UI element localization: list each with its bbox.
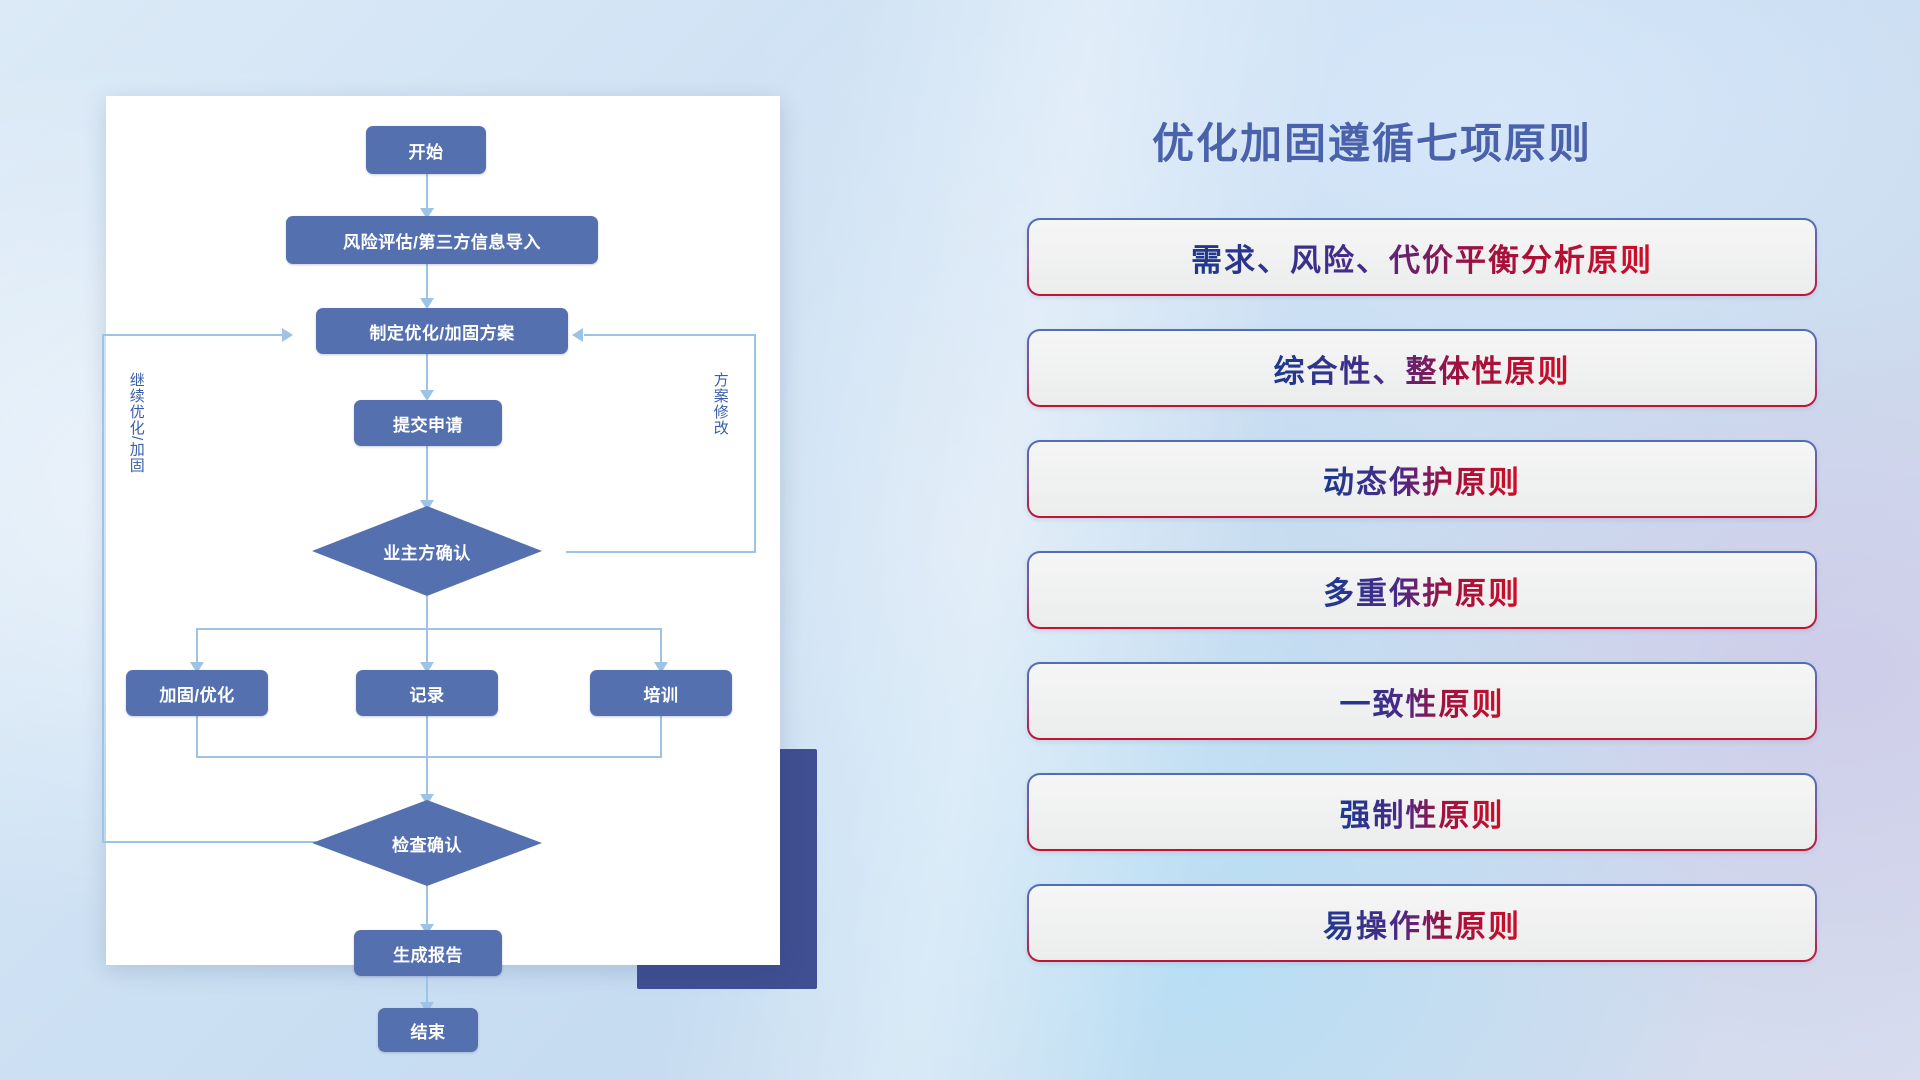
- principles-panel: 优化加固遵循七项原则 需求、风险、代价平衡分析原则 综合性、整体性原则 动态保护…: [1020, 84, 1850, 1014]
- edge-record-to-check: [426, 716, 428, 800]
- principle-label-2: 综合性、整体性原则: [1274, 346, 1571, 391]
- edge-leftloop-vertical: [102, 334, 104, 843]
- edge-leftloop-bottom: [102, 841, 316, 843]
- edge-rightloop-top: [584, 334, 756, 336]
- principle-label-7: 易操作性原则: [1323, 901, 1521, 946]
- principle-label-5: 一致性原则: [1340, 679, 1505, 724]
- arrow-rightloop-to-plan: [572, 328, 583, 342]
- principles-title: 优化加固遵循七项原则: [1152, 110, 1592, 171]
- flow-node-generate-report[interactable]: 生成报告: [354, 930, 502, 976]
- flow-node-reinforce[interactable]: 加固/优化: [126, 670, 268, 716]
- flow-node-owner-confirm-label: 业主方确认: [383, 539, 471, 564]
- principle-card-3[interactable]: 动态保护原则: [1027, 440, 1817, 518]
- edge-rightloop-bottom: [566, 551, 756, 553]
- arrow-leftloop-to-plan: [282, 328, 293, 342]
- principle-card-2[interactable]: 综合性、整体性原则: [1027, 329, 1817, 407]
- principle-card-6[interactable]: 强制性原则: [1027, 773, 1817, 851]
- flow-node-training[interactable]: 培训: [590, 670, 732, 716]
- principle-card-7[interactable]: 易操作性原则: [1027, 884, 1817, 962]
- principle-label-6: 强制性原则: [1340, 790, 1505, 835]
- flow-node-plan-label: 制定优化/加固方案: [369, 319, 514, 344]
- edge-train-down: [660, 716, 662, 758]
- flow-node-training-label: 培训: [644, 681, 679, 706]
- flow-node-start[interactable]: 开始: [366, 126, 486, 174]
- flow-node-plan[interactable]: 制定优化/加固方案: [316, 308, 568, 354]
- flow-node-risk-assessment[interactable]: 风险评估/第三方信息导入: [286, 216, 598, 264]
- edge-merge-bus: [196, 756, 660, 758]
- flow-node-owner-confirm[interactable]: 业主方确认: [312, 506, 542, 596]
- flowchart-panel: 继续优化/加固 方案修改 开始 风险评估/第三方信息导入 制定优化/加固方案 提…: [106, 96, 780, 965]
- edge-leftloop-top: [102, 334, 286, 336]
- edge-rightloop-vertical: [754, 334, 756, 553]
- flow-node-end-label: 结束: [411, 1018, 446, 1043]
- flow-node-submit-application[interactable]: 提交申请: [354, 400, 502, 446]
- flow-node-generate-report-label: 生成报告: [393, 941, 463, 966]
- flowchart-stage: 继续优化/加固 方案修改 开始 风险评估/第三方信息导入 制定优化/加固方案 提…: [106, 96, 780, 965]
- edge-owner-down: [426, 596, 428, 630]
- edge-reinforce-down: [196, 716, 198, 758]
- edge-label-plan-revision: 方案修改: [712, 372, 728, 436]
- flow-node-reinforce-label: 加固/优化: [159, 681, 234, 706]
- edge-owner-fanout-bus: [196, 628, 660, 630]
- principle-card-5[interactable]: 一致性原则: [1027, 662, 1817, 740]
- principle-label-1: 需求、风险、代价平衡分析原则: [1191, 235, 1653, 280]
- flow-node-start-label: 开始: [409, 138, 444, 163]
- flow-node-end[interactable]: 结束: [378, 1008, 478, 1052]
- principle-label-4: 多重保护原则: [1323, 568, 1521, 613]
- edge-submit-to-owner: [426, 446, 428, 506]
- flow-node-record-label: 记录: [410, 681, 445, 706]
- flow-node-risk-assessment-label: 风险评估/第三方信息导入: [343, 228, 541, 253]
- flow-node-inspection-confirm-label: 检查确认: [392, 831, 462, 856]
- principle-label-3: 动态保护原则: [1323, 457, 1521, 502]
- principle-card-4[interactable]: 多重保护原则: [1027, 551, 1817, 629]
- flow-node-inspection-confirm[interactable]: 检查确认: [312, 800, 542, 886]
- principle-card-1[interactable]: 需求、风险、代价平衡分析原则: [1027, 218, 1817, 296]
- flow-node-submit-application-label: 提交申请: [393, 411, 463, 436]
- edge-label-continue-optimize: 继续优化/加固: [128, 372, 144, 473]
- flow-node-record[interactable]: 记录: [356, 670, 498, 716]
